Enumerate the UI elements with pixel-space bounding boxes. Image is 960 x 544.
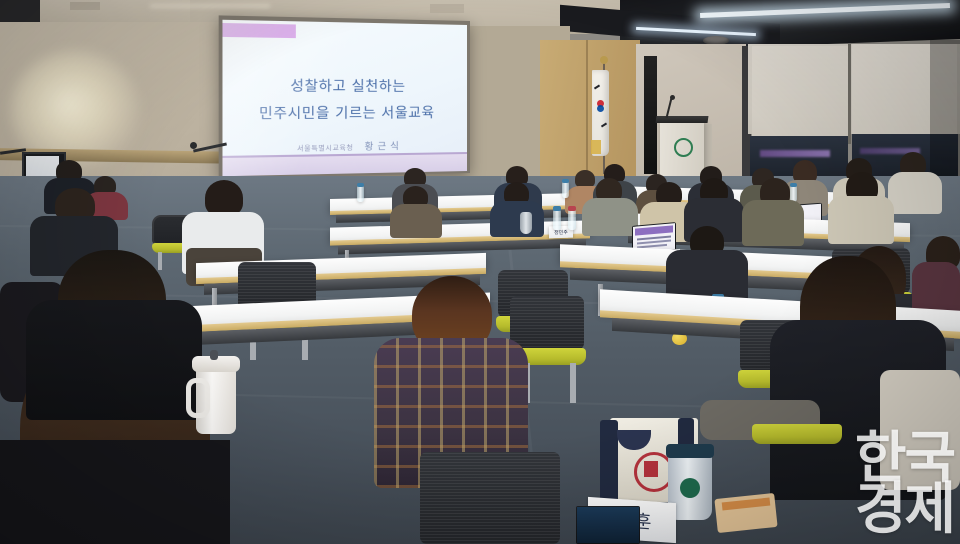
person-torso (742, 200, 804, 246)
water-bottle (568, 210, 576, 230)
bottle-cap (357, 183, 364, 187)
led-light-strip-icon (150, 4, 270, 8)
spacer (440, 160, 441, 161)
steel-tumbler (520, 212, 532, 234)
bottle-cap (562, 179, 569, 183)
podium-top-surface (656, 116, 709, 123)
water-bottle (357, 186, 364, 202)
photo-scene: 성찰하고 실천하는 민주시민을 기르는 서울교육 서울특별시교육청 황 근 식 (0, 0, 960, 544)
person-torso (390, 204, 442, 238)
podium-emblem-icon (674, 138, 693, 157)
laptop[interactable] (576, 506, 640, 544)
tote-bag-logo-mark (644, 461, 658, 477)
person-torso (490, 201, 544, 237)
ceiling-dark-panel-left (0, 0, 40, 24)
microphone-head-icon (190, 142, 197, 149)
window-blind-seam (848, 44, 851, 144)
microphone-head-icon (670, 95, 675, 100)
projection-screen: 성찰하고 실천하는 민주시민을 기르는 서울교육 서울특별시교육청 황 근 식 (222, 20, 467, 176)
ceiling-vent (430, 4, 464, 13)
wood-wall-panel (540, 40, 640, 190)
tumbler-lid (666, 444, 714, 458)
chair-seat[interactable] (752, 424, 842, 444)
laptop-screen-content (577, 507, 639, 543)
watermark-logo: 한국 경제 (855, 433, 954, 536)
ceiling-vent (70, 2, 100, 10)
column-speaker-icon (644, 56, 657, 174)
chair-back[interactable] (510, 296, 584, 350)
water-bottle (553, 210, 561, 230)
tumbler-straw (210, 350, 218, 360)
chair-leg (158, 252, 162, 270)
bottle-cap (553, 206, 561, 211)
window-reflection (760, 150, 830, 157)
person-torso (828, 196, 894, 244)
person-torso-leather-jacket (26, 300, 202, 420)
water-bottle (562, 182, 569, 198)
chair-leg (570, 363, 576, 403)
wall-shadow (930, 40, 960, 190)
screen-glare (222, 20, 467, 176)
wood-panel-seam (586, 40, 588, 190)
starbucks-logo-icon (680, 478, 700, 498)
person-torso (888, 172, 942, 214)
flag-finial (600, 56, 608, 64)
bottle-cap (568, 206, 576, 211)
flag-gold-fringe (591, 140, 601, 154)
person-head (205, 180, 243, 216)
watermark-line2: 경제 (855, 484, 954, 536)
bottle-cap (790, 183, 797, 187)
window-blind[interactable] (752, 46, 848, 146)
flag-taeguk-blue (597, 105, 604, 112)
person-torso (582, 198, 638, 236)
tumbler-handle (186, 378, 210, 418)
tote-bag-strap (600, 420, 618, 502)
chair-back[interactable] (420, 452, 560, 544)
person-torso (0, 440, 230, 544)
